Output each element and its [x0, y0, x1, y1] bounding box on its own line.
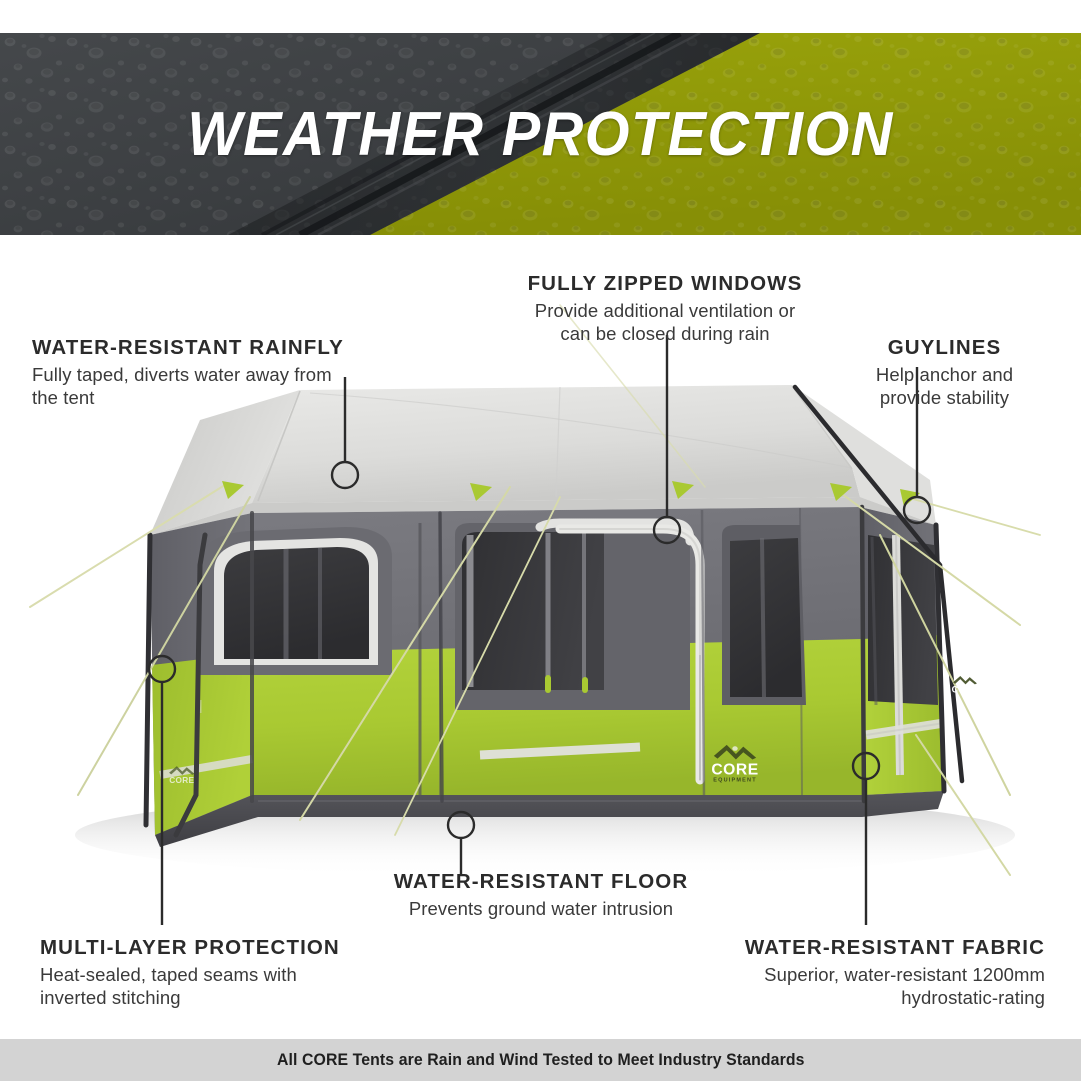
svg-text:CORE: CORE	[952, 685, 979, 695]
callout-body-line1: Superior, water-resistant 1200mm	[612, 963, 1045, 987]
callout-body-line2: hydrostatic-rating	[612, 986, 1045, 1010]
callout-title: FULLY ZIPPED WINDOWS	[455, 272, 875, 296]
callout-multi-layer-protection: MULTI-LAYER PROTECTION Heat-sealed, tape…	[40, 936, 460, 1010]
callout-title: WATER-RESISTANT RAINFLY	[32, 336, 432, 360]
core-logo-side: CORE	[952, 676, 979, 695]
callout-body-line2: the tent	[32, 386, 432, 410]
left-window	[200, 523, 420, 675]
callout-body-line1: Provide additional ventilation or	[455, 299, 875, 323]
callout-body-line1: Prevents ground water intrusion	[316, 897, 766, 921]
header-banner: WEATHER PROTECTION	[0, 33, 1081, 235]
callout-title: WATER-RESISTANT FLOOR	[316, 870, 766, 894]
infographic-page: WEATHER PROTECTION	[0, 0, 1081, 1081]
callout-body-line2: can be closed during rain	[455, 322, 875, 346]
callout-guylines: GUYLINES Help anchor and provide stabili…	[832, 336, 1057, 410]
svg-text:CORE: CORE	[169, 776, 194, 785]
svg-text:EQUIPMENT: EQUIPMENT	[713, 778, 757, 784]
callout-body-line2: inverted stitching	[40, 986, 460, 1010]
right-front-window	[722, 525, 806, 705]
callout-body-line1: Fully taped, diverts water away from	[32, 363, 432, 387]
footer-bar: All CORE Tents are Rain and Wind Tested …	[0, 1039, 1081, 1081]
callout-title: GUYLINES	[832, 336, 1057, 360]
svg-text:CORE: CORE	[711, 761, 758, 778]
callout-body-line2: provide stability	[832, 386, 1057, 410]
callout-body-line1: Help anchor and	[832, 363, 1057, 387]
callout-fully-zipped-windows: FULLY ZIPPED WINDOWS Provide additional …	[455, 272, 875, 346]
callout-body-line1: Heat-sealed, taped seams with	[40, 963, 460, 987]
callout-title: WATER-RESISTANT FABRIC	[612, 936, 1045, 960]
callout-title: MULTI-LAYER PROTECTION	[40, 936, 460, 960]
page-title: WEATHER PROTECTION	[38, 33, 1043, 235]
footer-text: All CORE Tents are Rain and Wind Tested …	[277, 1051, 805, 1070]
callout-water-resistant-fabric: WATER-RESISTANT FABRIC Superior, water-r…	[612, 936, 1045, 1010]
callout-water-resistant-rainfly: WATER-RESISTANT RAINFLY Fully taped, div…	[32, 336, 432, 410]
callout-water-resistant-floor: WATER-RESISTANT FLOOR Prevents ground wa…	[316, 870, 766, 920]
